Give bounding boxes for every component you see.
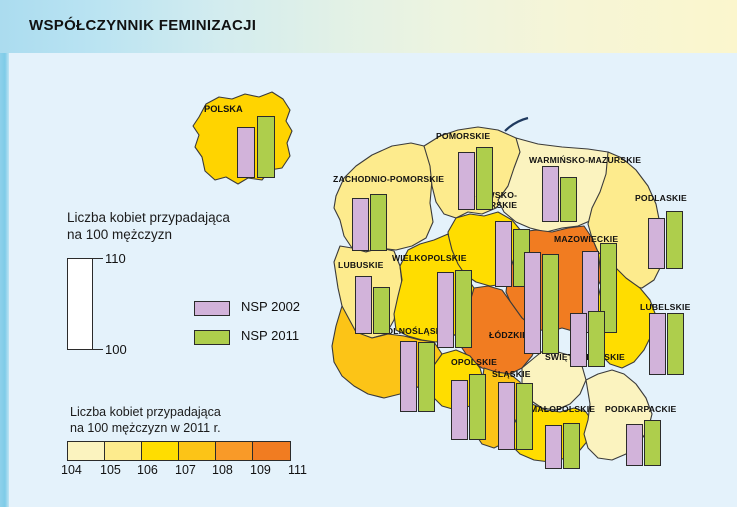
region-label-zachodnio-pomorskie: ZACHODNIO-POMORSKIE — [333, 174, 444, 184]
inset-bars-polska — [237, 116, 277, 178]
region-label-slaskie: ŚLĄSKIE — [492, 369, 531, 379]
legend-label-nsp2002: NSP 2002 — [241, 299, 300, 314]
choropleth-swatch-0 — [68, 442, 105, 460]
bar-nsp2011 — [563, 423, 580, 469]
legend-swatch-nsp2002 — [194, 301, 230, 316]
bar-nsp2002 — [545, 425, 562, 469]
scale-label-max: 110 — [105, 251, 126, 266]
scale-tick-max — [93, 258, 103, 259]
scale-legend-title-line1: Liczba kobiet przypadająca — [67, 209, 230, 226]
scale-bar-box — [67, 258, 93, 350]
bar-nsp2002 — [626, 424, 643, 466]
scale-label-min: 100 — [105, 342, 127, 357]
region-label-lubelskie: LUBELSKIE — [640, 302, 691, 312]
choropleth-swatch-1 — [105, 442, 142, 460]
region-bars-dolnoslaskie — [400, 341, 438, 412]
bar-nsp2002 — [542, 166, 559, 222]
bar-nsp2011 — [560, 177, 577, 222]
region-bars-opolskie — [451, 374, 489, 440]
region-label-podkarpackie: PODKARPACKIE — [605, 404, 676, 414]
region-bars-warminsko-mazurskie — [542, 166, 580, 222]
choropleth-tick-3: 107 — [175, 463, 196, 477]
bar-nsp2011 — [373, 287, 390, 334]
bar-nsp2002 — [437, 272, 454, 348]
bar-nsp2011 — [542, 254, 559, 354]
region-label-opolskie: OPOLSKIE — [451, 357, 497, 367]
region-label-lodzkie: ŁÓDZKIE — [489, 330, 528, 340]
inset-label-polska: POLSKA — [204, 104, 243, 114]
region-bars-malopolskie — [545, 423, 583, 469]
bar-nsp2002 — [649, 313, 666, 375]
region-bars-pomorskie — [458, 142, 496, 210]
region-bars-lubelskie — [649, 313, 687, 375]
region-label-warminsko-mazurskie: WARMIŃSKO-MAZURSKIE — [529, 155, 641, 165]
choropleth-tick-4: 108 — [212, 463, 233, 477]
bar-nsp2002 — [400, 341, 417, 412]
bar-nsp2002 — [495, 221, 512, 287]
legend-label-nsp2011: NSP 2011 — [241, 328, 299, 343]
region-bars-lubuskie — [355, 276, 393, 334]
choropleth-tick-5: 109 — [250, 463, 271, 477]
choropleth-swatch-5 — [253, 442, 290, 460]
region-bars-podkarpackie — [626, 420, 664, 466]
region-label-malopolskie: MAŁOPOLSKIE — [530, 404, 595, 414]
bar-nsp2002 — [352, 198, 369, 251]
bar-nsp2011 — [257, 116, 275, 178]
region-label-pomorskie: POMORSKIE — [436, 131, 490, 141]
bar-nsp2011 — [666, 211, 683, 269]
bar-nsp2002 — [570, 313, 587, 367]
scale-tick-min — [93, 349, 103, 350]
choropleth-tick-2: 106 — [137, 463, 158, 477]
region-bars-zachodnio-pomorskie — [352, 189, 390, 251]
bar-nsp2011 — [455, 270, 472, 348]
region-bars-swietokrzyskie — [570, 311, 608, 367]
choropleth-swatch-4 — [216, 442, 253, 460]
bar-nsp2011 — [469, 374, 486, 440]
bar-nsp2002 — [648, 218, 665, 269]
bar-nsp2002 — [355, 276, 372, 334]
bar-nsp2011 — [370, 194, 387, 251]
bar-nsp2011 — [588, 311, 605, 367]
bar-nsp2002 — [458, 152, 475, 210]
scale-legend-title-line2: na 100 mężczyzn — [67, 226, 172, 243]
bar-nsp2011 — [516, 383, 533, 450]
legend-swatch-nsp2011 — [194, 330, 230, 345]
bar-nsp2002 — [498, 382, 515, 450]
infographic-root: WSPÓŁCZYNNIK FEMINIZACJI — [0, 0, 737, 507]
choropleth-tick-0: 104 — [61, 463, 82, 477]
region-label-podlaskie: PODLASKIE — [635, 193, 687, 203]
region-label-wielkopolskie: WIELKOPOLSKIE — [392, 253, 467, 263]
choropleth-swatch-3 — [179, 442, 216, 460]
bar-nsp2002 — [524, 252, 541, 354]
choropleth-color-strip — [67, 441, 291, 461]
choropleth-swatch-2 — [142, 442, 179, 460]
bar-nsp2011 — [644, 420, 661, 466]
region-bars-lodzkie — [524, 252, 562, 354]
choropleth-tick-labels: 104 105 106 107 108 109 111 — [57, 463, 317, 479]
region-bars-slaskie — [498, 382, 536, 450]
choropleth-tick-6: 111 — [288, 463, 307, 477]
region-label-lubuskie: LUBUSKIE — [338, 260, 384, 270]
bar-nsp2011 — [667, 313, 684, 375]
choropleth-legend-title-line1: Liczba kobiet przypadająca — [70, 404, 221, 421]
bar-nsp2011 — [476, 147, 493, 210]
region-bars-wielkopolskie — [437, 270, 475, 348]
choropleth-legend-title-line2: na 100 mężczyzn w 2011 r. — [70, 420, 221, 437]
bar-nsp2002 — [237, 127, 255, 178]
baltic-pointer — [505, 118, 528, 131]
bar-nsp2011 — [418, 342, 435, 412]
bar-nsp2002 — [451, 380, 468, 440]
region-bars-podlaskie — [648, 207, 686, 269]
choropleth-tick-1: 105 — [100, 463, 121, 477]
